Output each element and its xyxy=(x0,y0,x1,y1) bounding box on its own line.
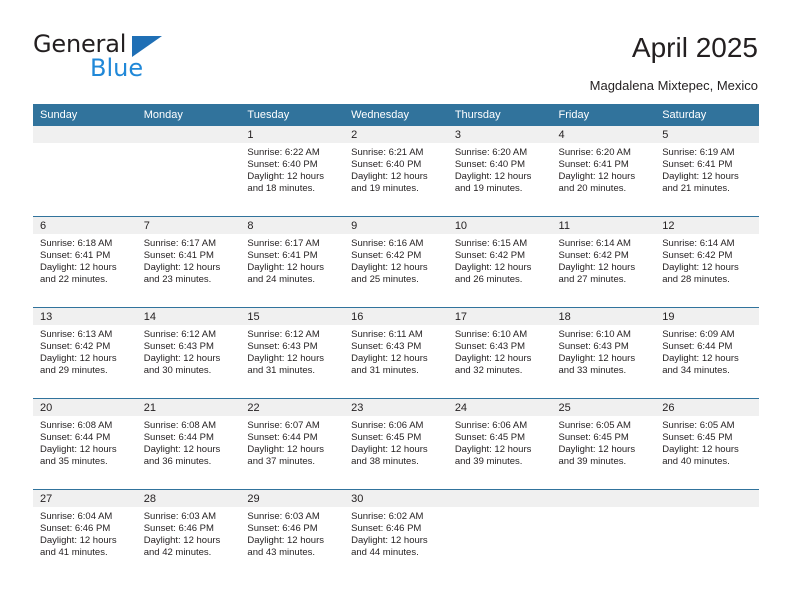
calendar-cell: 30Sunrise: 6:02 AMSunset: 6:46 PMDayligh… xyxy=(344,490,448,581)
day-cell[interactable]: 22Sunrise: 6:07 AMSunset: 6:44 PMDayligh… xyxy=(240,399,344,489)
sunset-text: Sunset: 6:44 PM xyxy=(40,432,131,444)
day-details: Sunrise: 6:14 AMSunset: 6:42 PMDaylight:… xyxy=(655,234,759,286)
calendar-table: SundayMondayTuesdayWednesdayThursdayFrid… xyxy=(33,104,759,580)
day-number: 2 xyxy=(344,126,448,143)
sunrise-text: Sunrise: 6:06 AM xyxy=(455,420,546,432)
calendar-cell: 14Sunrise: 6:12 AMSunset: 6:43 PMDayligh… xyxy=(137,308,241,399)
calendar-body: 1Sunrise: 6:22 AMSunset: 6:40 PMDaylight… xyxy=(33,126,759,580)
sunset-text: Sunset: 6:45 PM xyxy=(559,432,650,444)
day-details: Sunrise: 6:06 AMSunset: 6:45 PMDaylight:… xyxy=(344,416,448,468)
daylight-text-line2: and 24 minutes. xyxy=(247,274,338,286)
day-details: Sunrise: 6:10 AMSunset: 6:43 PMDaylight:… xyxy=(448,325,552,377)
weekday-header-friday: Friday xyxy=(552,104,656,126)
day-number: 21 xyxy=(137,399,241,416)
calendar-cell: 23Sunrise: 6:06 AMSunset: 6:45 PMDayligh… xyxy=(344,399,448,490)
day-number: 22 xyxy=(240,399,344,416)
calendar-cell: 11Sunrise: 6:14 AMSunset: 6:42 PMDayligh… xyxy=(552,217,656,308)
sunrise-text: Sunrise: 6:14 AM xyxy=(559,238,650,250)
day-details: Sunrise: 6:12 AMSunset: 6:43 PMDaylight:… xyxy=(137,325,241,377)
day-details: Sunrise: 6:16 AMSunset: 6:42 PMDaylight:… xyxy=(344,234,448,286)
sunrise-text: Sunrise: 6:02 AM xyxy=(351,511,442,523)
daylight-text-line1: Daylight: 12 hours xyxy=(247,262,338,274)
day-details: Sunrise: 6:17 AMSunset: 6:41 PMDaylight:… xyxy=(240,234,344,286)
calendar-cell: 28Sunrise: 6:03 AMSunset: 6:46 PMDayligh… xyxy=(137,490,241,581)
daylight-text-line1: Daylight: 12 hours xyxy=(40,444,131,456)
day-details: Sunrise: 6:12 AMSunset: 6:43 PMDaylight:… xyxy=(240,325,344,377)
day-details: Sunrise: 6:05 AMSunset: 6:45 PMDaylight:… xyxy=(655,416,759,468)
day-number: 7 xyxy=(137,217,241,234)
daylight-text-line1: Daylight: 12 hours xyxy=(351,535,442,547)
calendar-week-row: 20Sunrise: 6:08 AMSunset: 6:44 PMDayligh… xyxy=(33,399,759,490)
sunrise-text: Sunrise: 6:07 AM xyxy=(247,420,338,432)
day-details: Sunrise: 6:21 AMSunset: 6:40 PMDaylight:… xyxy=(344,143,448,195)
sunrise-text: Sunrise: 6:22 AM xyxy=(247,147,338,159)
sunset-text: Sunset: 6:46 PM xyxy=(351,523,442,535)
sunrise-text: Sunrise: 6:03 AM xyxy=(247,511,338,523)
weekday-header-thursday: Thursday xyxy=(448,104,552,126)
day-cell[interactable]: 9Sunrise: 6:16 AMSunset: 6:42 PMDaylight… xyxy=(344,217,448,307)
daylight-text-line2: and 27 minutes. xyxy=(559,274,650,286)
day-number: 12 xyxy=(655,217,759,234)
day-details: Sunrise: 6:05 AMSunset: 6:45 PMDaylight:… xyxy=(552,416,656,468)
calendar-week-row: 6Sunrise: 6:18 AMSunset: 6:41 PMDaylight… xyxy=(33,217,759,308)
sunset-text: Sunset: 6:42 PM xyxy=(559,250,650,262)
day-cell[interactable]: 17Sunrise: 6:10 AMSunset: 6:43 PMDayligh… xyxy=(448,308,552,398)
daylight-text-line2: and 33 minutes. xyxy=(559,365,650,377)
day-number: 3 xyxy=(448,126,552,143)
day-cell[interactable]: 13Sunrise: 6:13 AMSunset: 6:42 PMDayligh… xyxy=(33,308,137,398)
day-cell[interactable]: 21Sunrise: 6:08 AMSunset: 6:44 PMDayligh… xyxy=(137,399,241,489)
sunrise-text: Sunrise: 6:12 AM xyxy=(144,329,235,341)
calendar-cell xyxy=(448,490,552,581)
day-details: Sunrise: 6:08 AMSunset: 6:44 PMDaylight:… xyxy=(33,416,137,468)
day-details: Sunrise: 6:06 AMSunset: 6:45 PMDaylight:… xyxy=(448,416,552,468)
calendar-cell xyxy=(655,490,759,581)
day-cell-empty xyxy=(655,490,759,580)
day-cell[interactable]: 30Sunrise: 6:02 AMSunset: 6:46 PMDayligh… xyxy=(344,490,448,580)
daylight-text-line1: Daylight: 12 hours xyxy=(247,353,338,365)
day-details: Sunrise: 6:07 AMSunset: 6:44 PMDaylight:… xyxy=(240,416,344,468)
calendar-cell: 16Sunrise: 6:11 AMSunset: 6:43 PMDayligh… xyxy=(344,308,448,399)
daylight-text-line2: and 41 minutes. xyxy=(40,547,131,559)
sunset-text: Sunset: 6:43 PM xyxy=(351,341,442,353)
day-details: Sunrise: 6:15 AMSunset: 6:42 PMDaylight:… xyxy=(448,234,552,286)
sunset-text: Sunset: 6:41 PM xyxy=(40,250,131,262)
sunset-text: Sunset: 6:41 PM xyxy=(662,159,753,171)
daylight-text-line2: and 34 minutes. xyxy=(662,365,753,377)
daylight-text-line1: Daylight: 12 hours xyxy=(662,353,753,365)
day-cell[interactable]: 7Sunrise: 6:17 AMSunset: 6:41 PMDaylight… xyxy=(137,217,241,307)
calendar-cell: 5Sunrise: 6:19 AMSunset: 6:41 PMDaylight… xyxy=(655,126,759,217)
day-details: Sunrise: 6:02 AMSunset: 6:46 PMDaylight:… xyxy=(344,507,448,559)
sunrise-text: Sunrise: 6:17 AM xyxy=(247,238,338,250)
sunrise-text: Sunrise: 6:12 AM xyxy=(247,329,338,341)
day-number: 17 xyxy=(448,308,552,325)
day-details: Sunrise: 6:04 AMSunset: 6:46 PMDaylight:… xyxy=(33,507,137,559)
day-details: Sunrise: 6:22 AMSunset: 6:40 PMDaylight:… xyxy=(240,143,344,195)
sunset-text: Sunset: 6:43 PM xyxy=(144,341,235,353)
day-cell[interactable]: 16Sunrise: 6:11 AMSunset: 6:43 PMDayligh… xyxy=(344,308,448,398)
calendar-week-row: 27Sunrise: 6:04 AMSunset: 6:46 PMDayligh… xyxy=(33,490,759,581)
day-number: 30 xyxy=(344,490,448,507)
weekday-header-wednesday: Wednesday xyxy=(344,104,448,126)
sunrise-text: Sunrise: 6:03 AM xyxy=(144,511,235,523)
day-details: Sunrise: 6:08 AMSunset: 6:44 PMDaylight:… xyxy=(137,416,241,468)
sunrise-text: Sunrise: 6:13 AM xyxy=(40,329,131,341)
daylight-text-line2: and 40 minutes. xyxy=(662,456,753,468)
sunrise-text: Sunrise: 6:19 AM xyxy=(662,147,753,159)
weekday-header-monday: Monday xyxy=(137,104,241,126)
day-number: 19 xyxy=(655,308,759,325)
day-details: Sunrise: 6:17 AMSunset: 6:41 PMDaylight:… xyxy=(137,234,241,286)
calendar-cell: 3Sunrise: 6:20 AMSunset: 6:40 PMDaylight… xyxy=(448,126,552,217)
day-details: Sunrise: 6:18 AMSunset: 6:41 PMDaylight:… xyxy=(33,234,137,286)
day-details: Sunrise: 6:20 AMSunset: 6:41 PMDaylight:… xyxy=(552,143,656,195)
sunset-text: Sunset: 6:42 PM xyxy=(662,250,753,262)
daylight-text-line2: and 38 minutes. xyxy=(351,456,442,468)
sunset-text: Sunset: 6:42 PM xyxy=(40,341,131,353)
sunrise-text: Sunrise: 6:20 AM xyxy=(559,147,650,159)
daylight-text-line2: and 39 minutes. xyxy=(455,456,546,468)
calendar-week-row: 13Sunrise: 6:13 AMSunset: 6:42 PMDayligh… xyxy=(33,308,759,399)
daylight-text-line2: and 18 minutes. xyxy=(247,183,338,195)
daylight-text-line1: Daylight: 12 hours xyxy=(559,262,650,274)
sunrise-text: Sunrise: 6:20 AM xyxy=(455,147,546,159)
calendar-cell: 26Sunrise: 6:05 AMSunset: 6:45 PMDayligh… xyxy=(655,399,759,490)
daylight-text-line1: Daylight: 12 hours xyxy=(351,353,442,365)
calendar-cell: 19Sunrise: 6:09 AMSunset: 6:44 PMDayligh… xyxy=(655,308,759,399)
daylight-text-line1: Daylight: 12 hours xyxy=(144,535,235,547)
weekday-header-tuesday: Tuesday xyxy=(240,104,344,126)
day-number: 4 xyxy=(552,126,656,143)
day-cell[interactable]: 27Sunrise: 6:04 AMSunset: 6:46 PMDayligh… xyxy=(33,490,137,580)
day-cell[interactable]: 26Sunrise: 6:05 AMSunset: 6:45 PMDayligh… xyxy=(655,399,759,489)
daylight-text-line2: and 44 minutes. xyxy=(351,547,442,559)
calendar-week-row: 1Sunrise: 6:22 AMSunset: 6:40 PMDaylight… xyxy=(33,126,759,217)
sunset-text: Sunset: 6:43 PM xyxy=(247,341,338,353)
daylight-text-line2: and 25 minutes. xyxy=(351,274,442,286)
day-number: 11 xyxy=(552,217,656,234)
sunrise-text: Sunrise: 6:06 AM xyxy=(351,420,442,432)
daylight-text-line2: and 23 minutes. xyxy=(144,274,235,286)
day-details: Sunrise: 6:19 AMSunset: 6:41 PMDaylight:… xyxy=(655,143,759,195)
sunset-text: Sunset: 6:40 PM xyxy=(455,159,546,171)
daylight-text-line1: Daylight: 12 hours xyxy=(559,171,650,183)
weekday-header-saturday: Saturday xyxy=(655,104,759,126)
daylight-text-line1: Daylight: 12 hours xyxy=(455,262,546,274)
calendar-cell: 27Sunrise: 6:04 AMSunset: 6:46 PMDayligh… xyxy=(33,490,137,581)
sunset-text: Sunset: 6:45 PM xyxy=(455,432,546,444)
sunset-text: Sunset: 6:43 PM xyxy=(559,341,650,353)
day-cell[interactable]: 8Sunrise: 6:17 AMSunset: 6:41 PMDaylight… xyxy=(240,217,344,307)
sunrise-text: Sunrise: 6:16 AM xyxy=(351,238,442,250)
daylight-text-line2: and 35 minutes. xyxy=(40,456,131,468)
day-details: Sunrise: 6:10 AMSunset: 6:43 PMDaylight:… xyxy=(552,325,656,377)
calendar-cell: 20Sunrise: 6:08 AMSunset: 6:44 PMDayligh… xyxy=(33,399,137,490)
day-number: 14 xyxy=(137,308,241,325)
sunset-text: Sunset: 6:46 PM xyxy=(247,523,338,535)
day-cell[interactable]: 5Sunrise: 6:19 AMSunset: 6:41 PMDaylight… xyxy=(655,126,759,216)
calendar-cell xyxy=(552,490,656,581)
logo-text-blue: Blue xyxy=(90,56,143,80)
day-cell-empty xyxy=(137,126,241,216)
day-number: 10 xyxy=(448,217,552,234)
daylight-text-line1: Daylight: 12 hours xyxy=(559,444,650,456)
daylight-text-line2: and 19 minutes. xyxy=(351,183,442,195)
sunset-text: Sunset: 6:45 PM xyxy=(351,432,442,444)
generalblue-logo[interactable]: General Blue xyxy=(33,32,263,82)
daylight-text-line1: Daylight: 12 hours xyxy=(662,171,753,183)
sunrise-text: Sunrise: 6:05 AM xyxy=(559,420,650,432)
daylight-text-line2: and 28 minutes. xyxy=(662,274,753,286)
day-cell[interactable]: 4Sunrise: 6:20 AMSunset: 6:41 PMDaylight… xyxy=(552,126,656,216)
day-number: 15 xyxy=(240,308,344,325)
sunrise-text: Sunrise: 6:09 AM xyxy=(662,329,753,341)
day-number: 23 xyxy=(344,399,448,416)
daylight-text-line2: and 39 minutes. xyxy=(559,456,650,468)
daylight-text-line1: Daylight: 12 hours xyxy=(455,444,546,456)
calendar-cell xyxy=(33,126,137,217)
day-number: 28 xyxy=(137,490,241,507)
daylight-text-line1: Daylight: 12 hours xyxy=(144,353,235,365)
day-details: Sunrise: 6:03 AMSunset: 6:46 PMDaylight:… xyxy=(137,507,241,559)
calendar-cell: 8Sunrise: 6:17 AMSunset: 6:41 PMDaylight… xyxy=(240,217,344,308)
sunset-text: Sunset: 6:45 PM xyxy=(662,432,753,444)
daylight-text-line2: and 37 minutes. xyxy=(247,456,338,468)
day-cell-empty xyxy=(448,490,552,580)
daylight-text-line1: Daylight: 12 hours xyxy=(351,444,442,456)
daylight-text-line1: Daylight: 12 hours xyxy=(662,262,753,274)
day-number: 24 xyxy=(448,399,552,416)
page-header: General Blue April 2025 Magdalena Mixtep… xyxy=(0,0,792,104)
page-title: April 2025 xyxy=(632,32,758,64)
day-number: 6 xyxy=(33,217,137,234)
sunrise-text: Sunrise: 6:08 AM xyxy=(144,420,235,432)
calendar-cell: 10Sunrise: 6:15 AMSunset: 6:42 PMDayligh… xyxy=(448,217,552,308)
weekday-header-sunday: Sunday xyxy=(33,104,137,126)
sunset-text: Sunset: 6:46 PM xyxy=(144,523,235,535)
calendar-cell: 7Sunrise: 6:17 AMSunset: 6:41 PMDaylight… xyxy=(137,217,241,308)
logo-text-general: General xyxy=(33,32,126,56)
daylight-text-line2: and 20 minutes. xyxy=(559,183,650,195)
sunrise-text: Sunrise: 6:11 AM xyxy=(351,329,442,341)
calendar-cell: 9Sunrise: 6:16 AMSunset: 6:42 PMDaylight… xyxy=(344,217,448,308)
daylight-text-line1: Daylight: 12 hours xyxy=(247,444,338,456)
sunset-text: Sunset: 6:42 PM xyxy=(351,250,442,262)
day-cell[interactable]: 12Sunrise: 6:14 AMSunset: 6:42 PMDayligh… xyxy=(655,217,759,307)
daylight-text-line2: and 42 minutes. xyxy=(144,547,235,559)
day-number xyxy=(137,126,241,143)
day-cell[interactable]: 18Sunrise: 6:10 AMSunset: 6:43 PMDayligh… xyxy=(552,308,656,398)
day-number: 18 xyxy=(552,308,656,325)
day-number: 8 xyxy=(240,217,344,234)
calendar-cell: 12Sunrise: 6:14 AMSunset: 6:42 PMDayligh… xyxy=(655,217,759,308)
calendar-grid-container: SundayMondayTuesdayWednesdayThursdayFrid… xyxy=(33,104,759,580)
sunrise-text: Sunrise: 6:05 AM xyxy=(662,420,753,432)
daylight-text-line2: and 26 minutes. xyxy=(455,274,546,286)
calendar-cell: 17Sunrise: 6:10 AMSunset: 6:43 PMDayligh… xyxy=(448,308,552,399)
daylight-text-line2: and 31 minutes. xyxy=(247,365,338,377)
daylight-text-line2: and 31 minutes. xyxy=(351,365,442,377)
day-cell-empty xyxy=(552,490,656,580)
daylight-text-line1: Daylight: 12 hours xyxy=(247,171,338,183)
calendar-cell: 15Sunrise: 6:12 AMSunset: 6:43 PMDayligh… xyxy=(240,308,344,399)
sunset-text: Sunset: 6:40 PM xyxy=(247,159,338,171)
daylight-text-line1: Daylight: 12 hours xyxy=(559,353,650,365)
daylight-text-line2: and 43 minutes. xyxy=(247,547,338,559)
daylight-text-line1: Daylight: 12 hours xyxy=(455,171,546,183)
calendar-cell: 6Sunrise: 6:18 AMSunset: 6:41 PMDaylight… xyxy=(33,217,137,308)
sunset-text: Sunset: 6:41 PM xyxy=(144,250,235,262)
calendar-cell: 1Sunrise: 6:22 AMSunset: 6:40 PMDaylight… xyxy=(240,126,344,217)
day-cell[interactable]: 19Sunrise: 6:09 AMSunset: 6:44 PMDayligh… xyxy=(655,308,759,398)
daylight-text-line2: and 30 minutes. xyxy=(144,365,235,377)
day-details: Sunrise: 6:13 AMSunset: 6:42 PMDaylight:… xyxy=(33,325,137,377)
calendar-page: General Blue April 2025 Magdalena Mixtep… xyxy=(0,0,792,612)
sunrise-text: Sunrise: 6:21 AM xyxy=(351,147,442,159)
sunrise-text: Sunrise: 6:17 AM xyxy=(144,238,235,250)
sunrise-text: Sunrise: 6:08 AM xyxy=(40,420,131,432)
day-cell-empty xyxy=(33,126,137,216)
calendar-cell: 29Sunrise: 6:03 AMSunset: 6:46 PMDayligh… xyxy=(240,490,344,581)
page-subtitle-location: Magdalena Mixtepec, Mexico xyxy=(590,78,758,93)
sunset-text: Sunset: 6:40 PM xyxy=(351,159,442,171)
daylight-text-line2: and 36 minutes. xyxy=(144,456,235,468)
day-cell[interactable]: 3Sunrise: 6:20 AMSunset: 6:40 PMDaylight… xyxy=(448,126,552,216)
sunset-text: Sunset: 6:43 PM xyxy=(455,341,546,353)
day-cell[interactable]: 14Sunrise: 6:12 AMSunset: 6:43 PMDayligh… xyxy=(137,308,241,398)
day-cell[interactable]: 6Sunrise: 6:18 AMSunset: 6:41 PMDaylight… xyxy=(33,217,137,307)
calendar-cell: 18Sunrise: 6:10 AMSunset: 6:43 PMDayligh… xyxy=(552,308,656,399)
day-number: 16 xyxy=(344,308,448,325)
day-details: Sunrise: 6:03 AMSunset: 6:46 PMDaylight:… xyxy=(240,507,344,559)
day-number: 29 xyxy=(240,490,344,507)
sunset-text: Sunset: 6:41 PM xyxy=(247,250,338,262)
day-cell[interactable]: 2Sunrise: 6:21 AMSunset: 6:40 PMDaylight… xyxy=(344,126,448,216)
day-cell[interactable]: 20Sunrise: 6:08 AMSunset: 6:44 PMDayligh… xyxy=(33,399,137,489)
calendar-cell: 13Sunrise: 6:13 AMSunset: 6:42 PMDayligh… xyxy=(33,308,137,399)
daylight-text-line1: Daylight: 12 hours xyxy=(247,535,338,547)
calendar-cell: 25Sunrise: 6:05 AMSunset: 6:45 PMDayligh… xyxy=(552,399,656,490)
daylight-text-line2: and 21 minutes. xyxy=(662,183,753,195)
sunset-text: Sunset: 6:41 PM xyxy=(559,159,650,171)
day-cell[interactable]: 11Sunrise: 6:14 AMSunset: 6:42 PMDayligh… xyxy=(552,217,656,307)
calendar-cell xyxy=(137,126,241,217)
sunrise-text: Sunrise: 6:15 AM xyxy=(455,238,546,250)
day-number xyxy=(448,490,552,507)
day-number: 25 xyxy=(552,399,656,416)
day-number xyxy=(655,490,759,507)
sunrise-text: Sunrise: 6:04 AM xyxy=(40,511,131,523)
sunrise-text: Sunrise: 6:10 AM xyxy=(455,329,546,341)
day-details: Sunrise: 6:20 AMSunset: 6:40 PMDaylight:… xyxy=(448,143,552,195)
daylight-text-line1: Daylight: 12 hours xyxy=(351,171,442,183)
day-number: 9 xyxy=(344,217,448,234)
sunrise-text: Sunrise: 6:18 AM xyxy=(40,238,131,250)
day-cell[interactable]: 15Sunrise: 6:12 AMSunset: 6:43 PMDayligh… xyxy=(240,308,344,398)
daylight-text-line1: Daylight: 12 hours xyxy=(144,444,235,456)
calendar-cell: 22Sunrise: 6:07 AMSunset: 6:44 PMDayligh… xyxy=(240,399,344,490)
daylight-text-line1: Daylight: 12 hours xyxy=(351,262,442,274)
calendar-cell: 4Sunrise: 6:20 AMSunset: 6:41 PMDaylight… xyxy=(552,126,656,217)
sunset-text: Sunset: 6:44 PM xyxy=(662,341,753,353)
sunset-text: Sunset: 6:44 PM xyxy=(247,432,338,444)
daylight-text-line2: and 22 minutes. xyxy=(40,274,131,286)
day-cell[interactable]: 23Sunrise: 6:06 AMSunset: 6:45 PMDayligh… xyxy=(344,399,448,489)
day-number xyxy=(552,490,656,507)
day-cell[interactable]: 1Sunrise: 6:22 AMSunset: 6:40 PMDaylight… xyxy=(240,126,344,216)
daylight-text-line1: Daylight: 12 hours xyxy=(40,353,131,365)
daylight-text-line1: Daylight: 12 hours xyxy=(40,262,131,274)
sunrise-text: Sunrise: 6:10 AM xyxy=(559,329,650,341)
day-number: 5 xyxy=(655,126,759,143)
calendar-cell: 2Sunrise: 6:21 AMSunset: 6:40 PMDaylight… xyxy=(344,126,448,217)
sunset-text: Sunset: 6:42 PM xyxy=(455,250,546,262)
day-number: 13 xyxy=(33,308,137,325)
day-number: 26 xyxy=(655,399,759,416)
day-details: Sunrise: 6:11 AMSunset: 6:43 PMDaylight:… xyxy=(344,325,448,377)
sunset-text: Sunset: 6:44 PM xyxy=(144,432,235,444)
daylight-text-line1: Daylight: 12 hours xyxy=(144,262,235,274)
day-cell[interactable]: 28Sunrise: 6:03 AMSunset: 6:46 PMDayligh… xyxy=(137,490,241,580)
day-cell[interactable]: 29Sunrise: 6:03 AMSunset: 6:46 PMDayligh… xyxy=(240,490,344,580)
day-details: Sunrise: 6:09 AMSunset: 6:44 PMDaylight:… xyxy=(655,325,759,377)
day-number: 20 xyxy=(33,399,137,416)
day-cell[interactable]: 24Sunrise: 6:06 AMSunset: 6:45 PMDayligh… xyxy=(448,399,552,489)
sunset-text: Sunset: 6:46 PM xyxy=(40,523,131,535)
daylight-text-line2: and 32 minutes. xyxy=(455,365,546,377)
day-details: Sunrise: 6:14 AMSunset: 6:42 PMDaylight:… xyxy=(552,234,656,286)
calendar-cell: 21Sunrise: 6:08 AMSunset: 6:44 PMDayligh… xyxy=(137,399,241,490)
calendar-header-row: SundayMondayTuesdayWednesdayThursdayFrid… xyxy=(33,104,759,126)
day-cell[interactable]: 25Sunrise: 6:05 AMSunset: 6:45 PMDayligh… xyxy=(552,399,656,489)
daylight-text-line1: Daylight: 12 hours xyxy=(40,535,131,547)
day-number: 1 xyxy=(240,126,344,143)
day-number xyxy=(33,126,137,143)
daylight-text-line1: Daylight: 12 hours xyxy=(662,444,753,456)
day-cell[interactable]: 10Sunrise: 6:15 AMSunset: 6:42 PMDayligh… xyxy=(448,217,552,307)
sunrise-text: Sunrise: 6:14 AM xyxy=(662,238,753,250)
daylight-text-line2: and 19 minutes. xyxy=(455,183,546,195)
calendar-cell: 24Sunrise: 6:06 AMSunset: 6:45 PMDayligh… xyxy=(448,399,552,490)
day-number: 27 xyxy=(33,490,137,507)
daylight-text-line2: and 29 minutes. xyxy=(40,365,131,377)
daylight-text-line1: Daylight: 12 hours xyxy=(455,353,546,365)
